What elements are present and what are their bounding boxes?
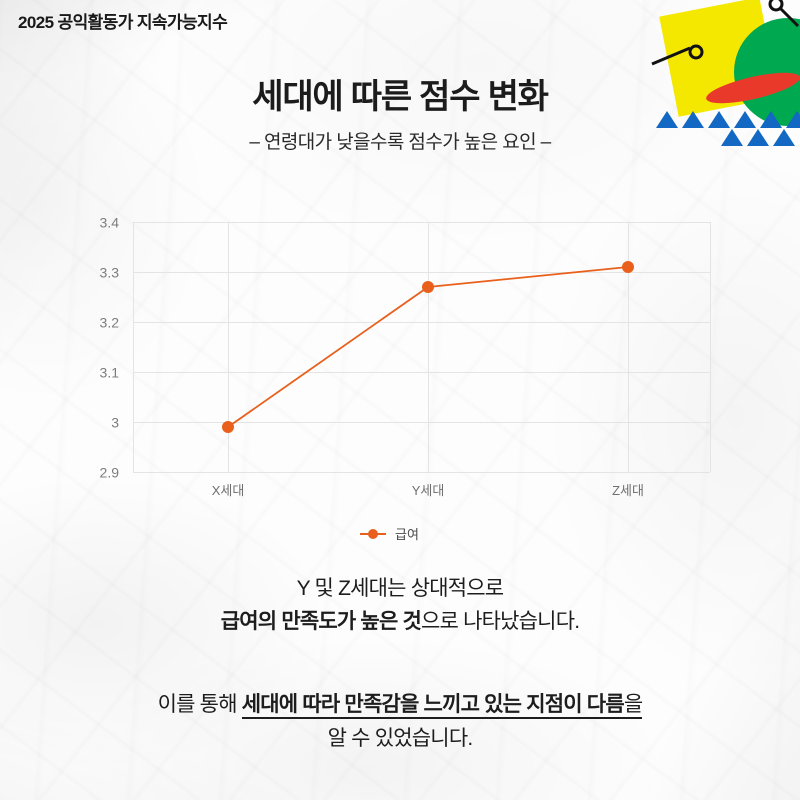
y-axis-tick-label: 3.2 bbox=[100, 315, 120, 331]
conclusion-line-2-bold: 급여의 만족도가 높은 것 bbox=[221, 610, 421, 633]
conclusion-line-2: 급여의 만족도가 높은 것으로 나타났습니다. bbox=[0, 606, 800, 639]
vertical-gridlines bbox=[134, 222, 711, 472]
page-subtitle: – 연령대가 낮을수록 점수가 높은 요인 – bbox=[0, 127, 800, 154]
data-point-marker[interactable] bbox=[422, 281, 434, 293]
chart-legend[interactable]: 급여 bbox=[360, 527, 419, 542]
conclusion-line-3-bold: 세대에 따라 만족감을 느끼고 있는 지점이 다름 bbox=[242, 693, 624, 719]
y-axis-tick-labels: 3.43.33.23.132.9 bbox=[100, 215, 120, 481]
conclusion-line-3: 이를 통해 세대에 따라 만족감을 느끼고 있는 지점이 다름을 bbox=[0, 688, 800, 722]
x-axis-tick-label: Y세대 bbox=[412, 483, 445, 498]
line-chart-svg: 3.43.33.23.132.9 X세대Y세대Z세대 급여 bbox=[0, 200, 800, 545]
x-axis-tick-label: Z세대 bbox=[612, 483, 644, 498]
horizontal-gridlines bbox=[133, 223, 710, 473]
x-axis-tick-label: X세대 bbox=[212, 483, 245, 498]
y-axis-tick-label: 3.3 bbox=[100, 265, 120, 281]
conclusion-paragraph-1: Y 및 Z세대는 상대적으로 급여의 만족도가 높은 것으로 나타났습니다. bbox=[0, 573, 800, 638]
conclusion-line-2-plain: 으로 나타났습니다. bbox=[421, 610, 579, 633]
data-point-marker[interactable] bbox=[222, 421, 234, 433]
title-block: 세대에 따른 점수 변화 – 연령대가 낮을수록 점수가 높은 요인 – bbox=[0, 78, 800, 154]
conclusion-line-3-prefix: 이를 통해 bbox=[158, 693, 242, 716]
conclusion-paragraph-2: 이를 통해 세대에 따라 만족감을 느끼고 있는 지점이 다름을 알 수 있었습… bbox=[0, 688, 800, 755]
y-axis-tick-label: 3.1 bbox=[100, 365, 120, 381]
page-header-label: 2025 공익활동가 지속가능지수 bbox=[18, 8, 227, 33]
legend-marker-swatch bbox=[368, 529, 378, 539]
y-axis-tick-label: 3.4 bbox=[100, 215, 120, 231]
y-axis-tick-label: 2.9 bbox=[100, 465, 120, 481]
black-open-circle-right bbox=[770, 0, 782, 10]
conclusion-line-4-text: 알 수 있었습니다. bbox=[328, 727, 473, 750]
conclusion-line-1: Y 및 Z세대는 상대적으로 bbox=[0, 573, 800, 606]
conclusion-line-1-text: Y 및 Z세대는 상대적으로 bbox=[297, 577, 504, 600]
conclusion-line-3-suffix: 을 bbox=[624, 693, 643, 719]
page-title: 세대에 따른 점수 변화 bbox=[0, 78, 800, 117]
y-axis-tick-label: 3 bbox=[111, 415, 119, 431]
legend-label[interactable]: 급여 bbox=[395, 527, 419, 542]
data-point-marker[interactable] bbox=[622, 261, 634, 273]
line-chart: 3.43.33.23.132.9 X세대Y세대Z세대 급여 bbox=[0, 200, 800, 545]
x-axis-tick-labels: X세대Y세대Z세대 bbox=[212, 483, 644, 498]
conclusion-line-4: 알 수 있었습니다. bbox=[0, 722, 800, 756]
